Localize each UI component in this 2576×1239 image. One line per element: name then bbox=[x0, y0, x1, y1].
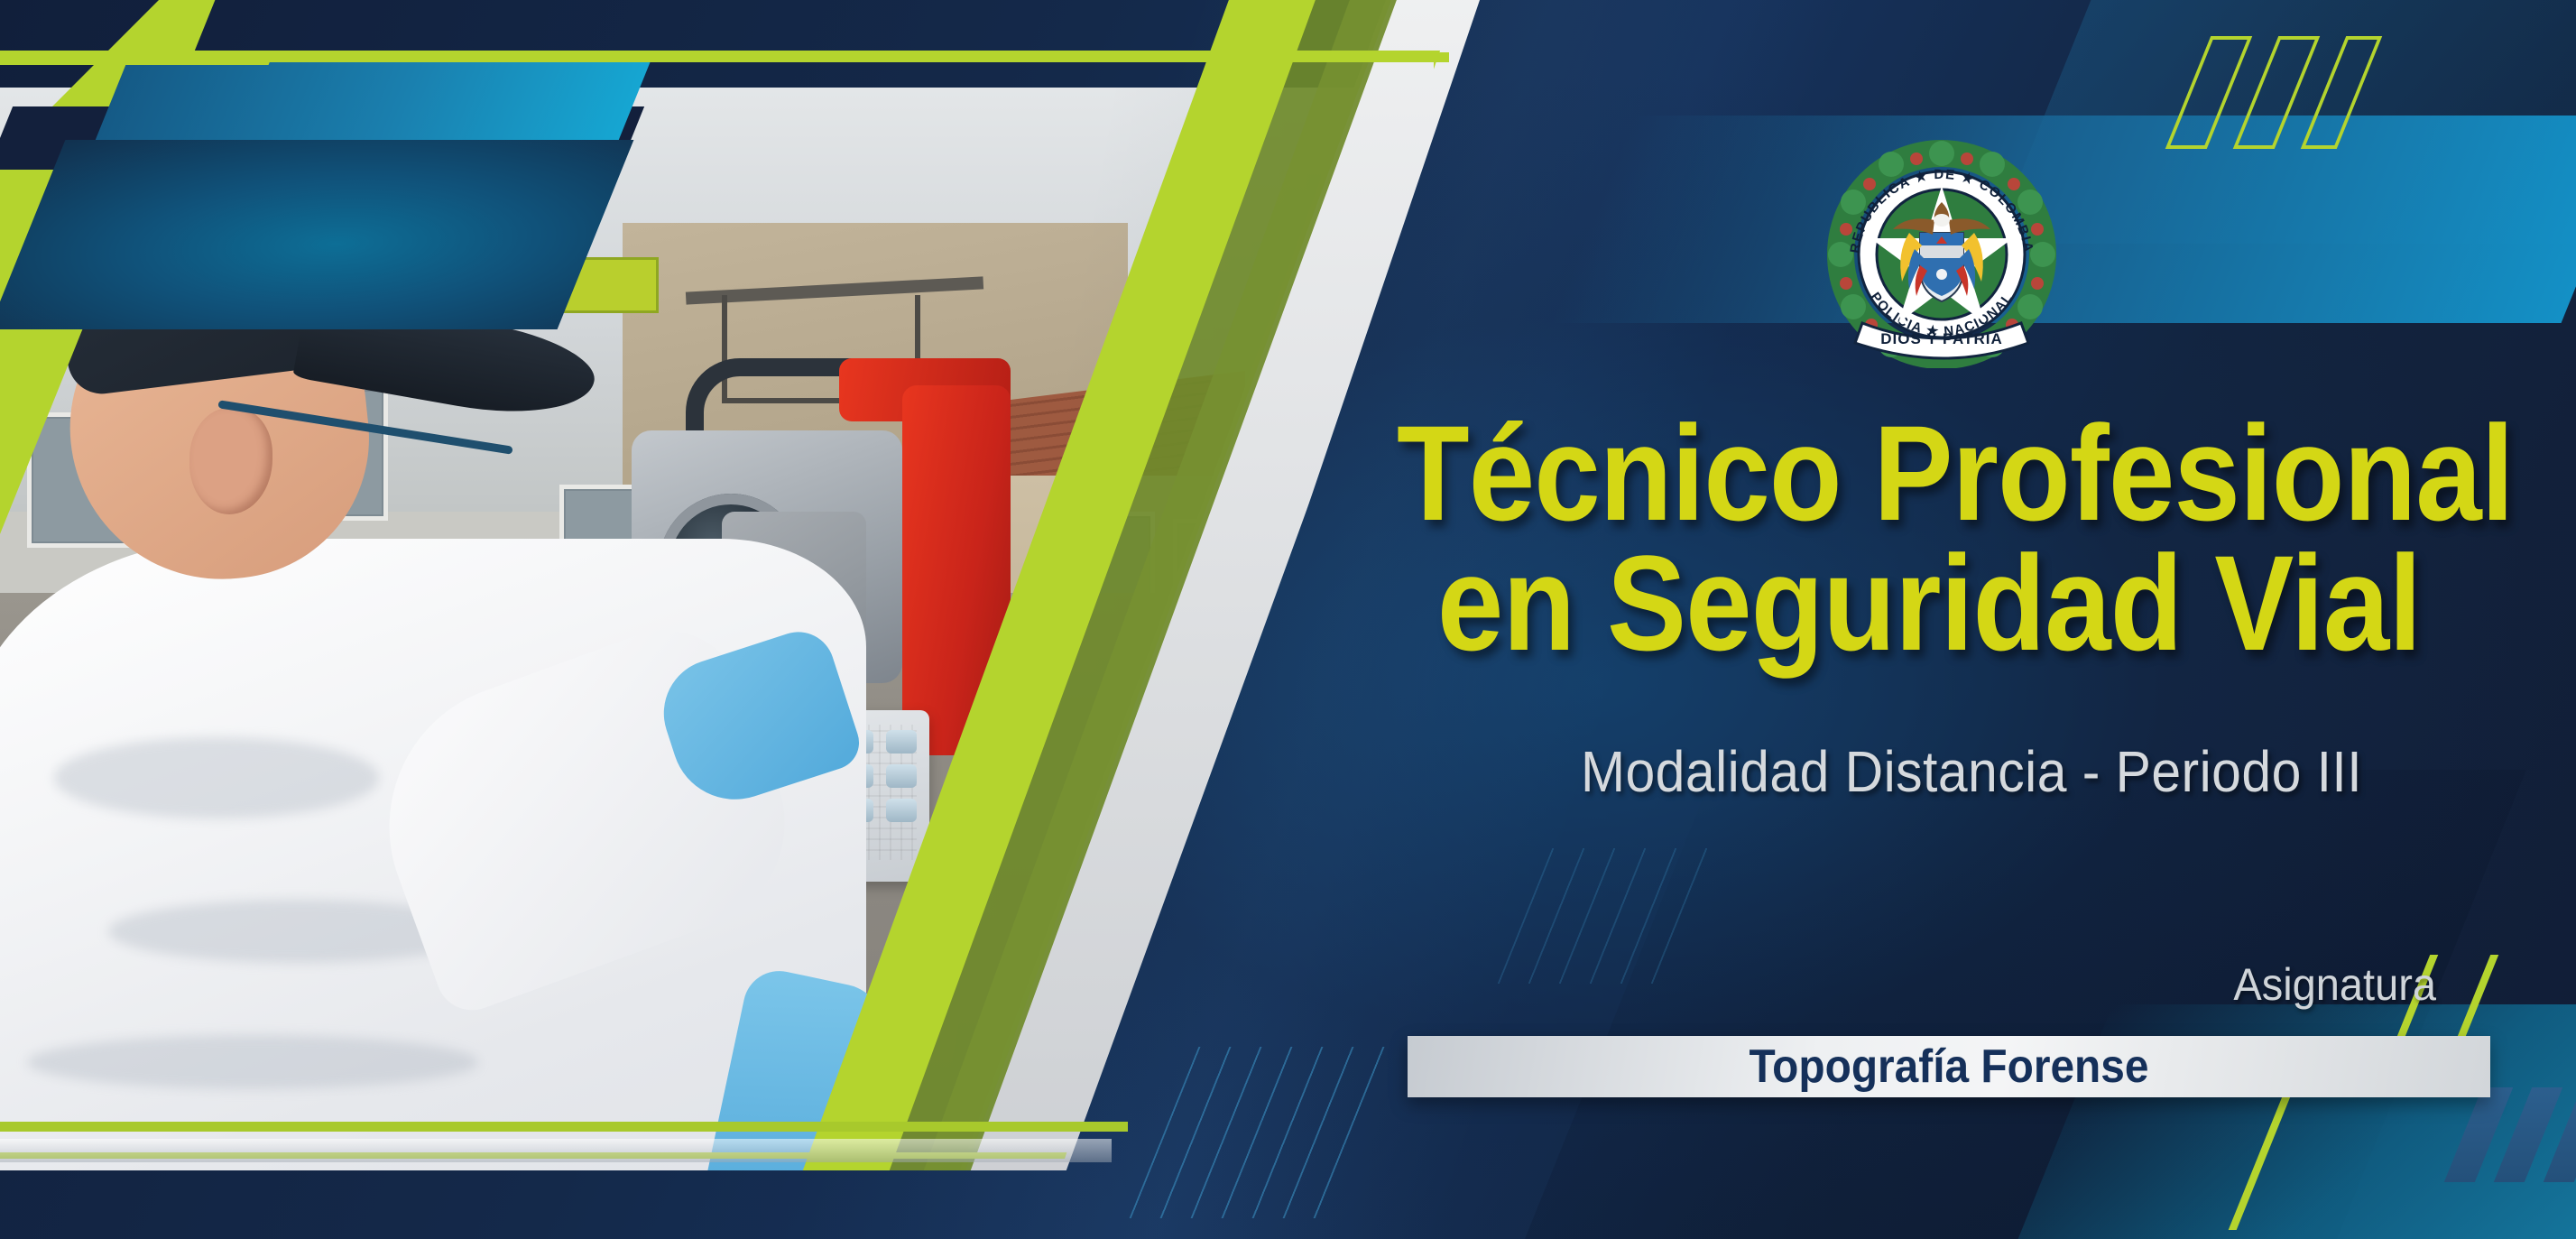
policia-nacional-emblem-icon: REPUBLICA ★ DE ★ COLOMBIA POLICIA ★ NACI… bbox=[1826, 137, 2057, 368]
corner-green-bar bbox=[0, 54, 272, 65]
teal-shape-top-right bbox=[1551, 116, 2576, 323]
course-banner: PO bbox=[0, 0, 2576, 1239]
page-title: Técnico Profesional en Seguridad Vial bbox=[1397, 408, 2421, 668]
subtitle: Modalidad Distancia - Periodo III bbox=[1461, 738, 2482, 805]
title-line-1: Técnico Profesional bbox=[1397, 408, 2421, 538]
subject-label: Asignatura bbox=[2233, 958, 2436, 1011]
photo-bottom-gray-line bbox=[0, 1139, 1112, 1162]
subject-name: Topografía Forense bbox=[1451, 1036, 2447, 1097]
corner-teal-shape-lower bbox=[0, 140, 633, 329]
svg-text:DIOS Y PATRIA: DIOS Y PATRIA bbox=[1880, 330, 2003, 347]
title-line-2: en Seguridad Vial bbox=[1397, 538, 2421, 668]
green-bottom-line bbox=[0, 1122, 1128, 1132]
